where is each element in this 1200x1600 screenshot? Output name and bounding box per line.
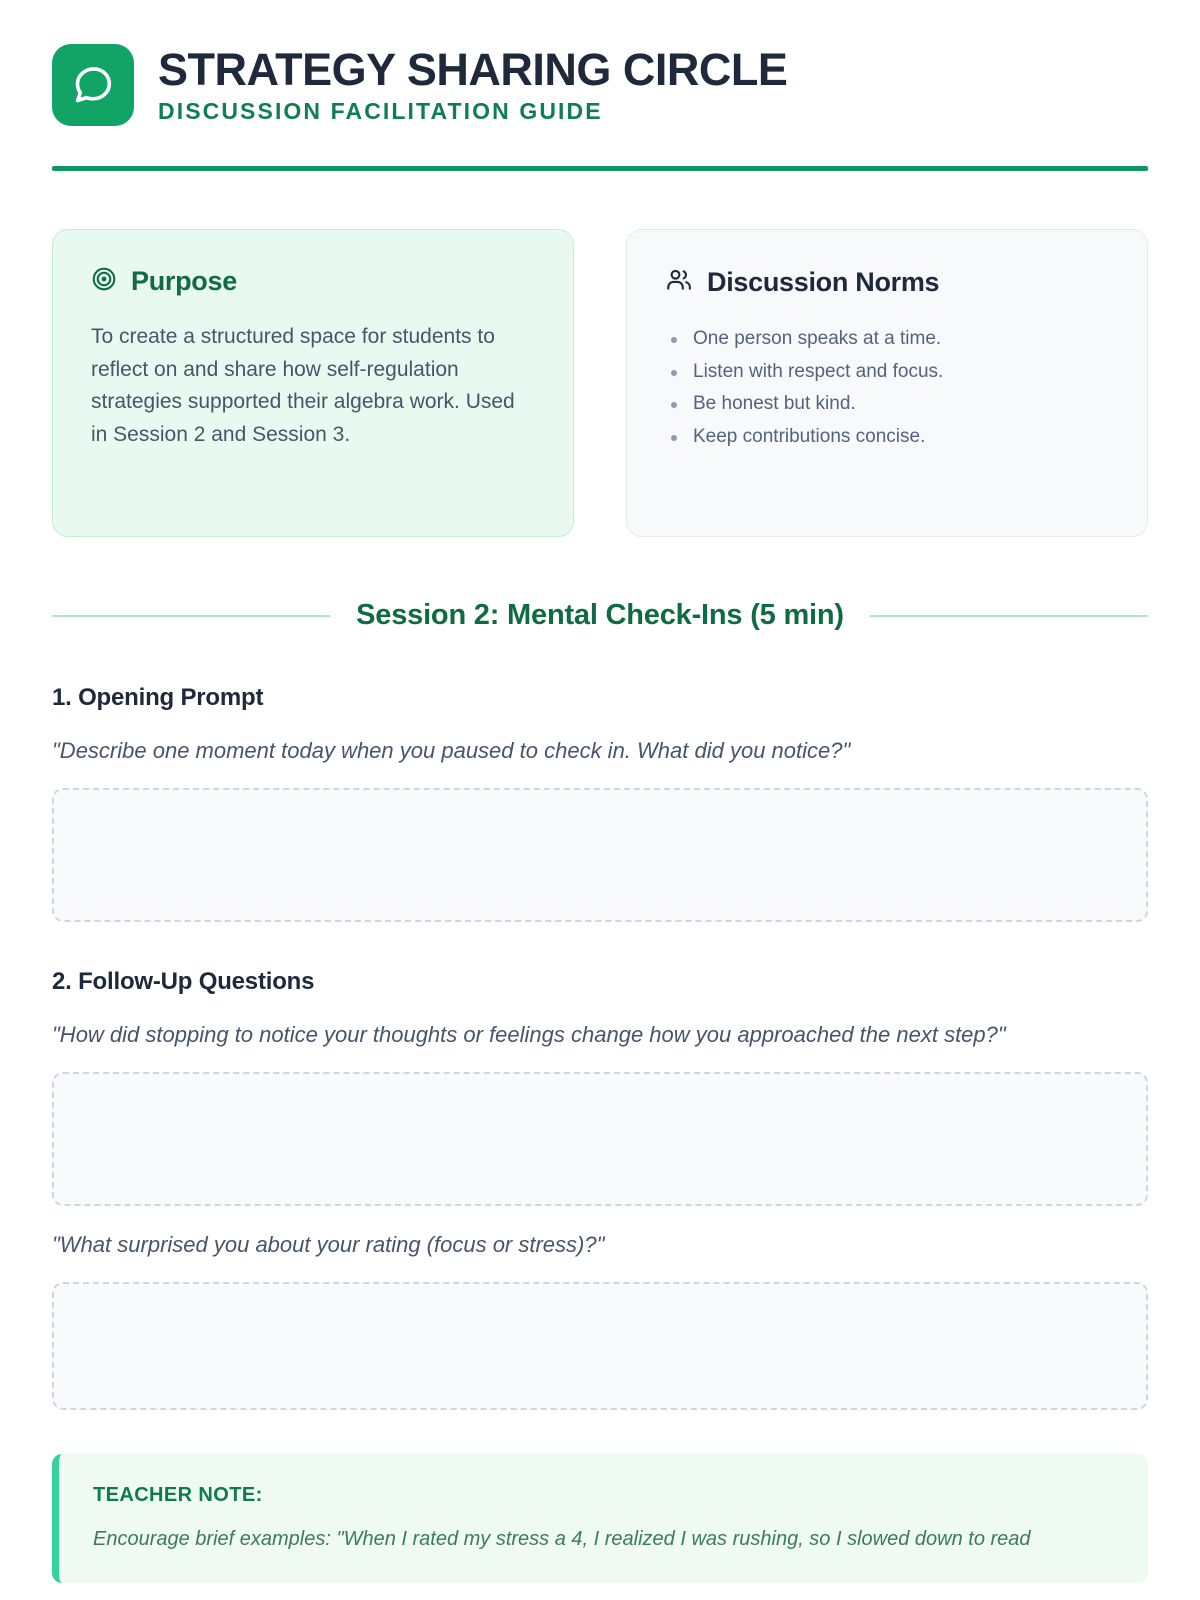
question-heading: 1. Opening Prompt — [52, 684, 1148, 712]
norms-list: One person speaks at a time. Listen with… — [665, 323, 1109, 454]
page-subtitle: DISCUSSION FACILITATION GUIDE — [158, 100, 787, 123]
speech-bubble-icon — [70, 62, 116, 108]
header-text-group: STRATEGY SHARING CIRCLE DISCUSSION FACIL… — [158, 47, 787, 123]
norms-card-title: Discussion Norms — [707, 267, 939, 298]
divider-line-left — [52, 615, 330, 617]
question-prompt: "Describe one moment today when you paus… — [52, 734, 1148, 768]
divider-line-right — [870, 615, 1148, 617]
discussion-norms-card: Discussion Norms One person speaks at a … — [626, 229, 1148, 537]
session-title: Session 2: Mental Check-Ins (5 min) — [356, 599, 844, 632]
teacher-note-label: TEACHER NOTE: — [93, 1484, 1114, 1507]
purpose-card-body: To create a structured space for student… — [91, 321, 535, 451]
norms-card-header: Discussion Norms — [665, 266, 1109, 299]
teacher-note-text: Encourage brief examples: "When I rated … — [93, 1524, 1114, 1555]
app-logo — [52, 44, 134, 126]
question-block-opening-prompt: 1. Opening Prompt "Describe one moment t… — [52, 684, 1148, 922]
header-divider-rule — [52, 166, 1148, 171]
question-prompt: "What surprised you about your rating (f… — [52, 1228, 1148, 1262]
page-title: STRATEGY SHARING CIRCLE — [158, 47, 787, 92]
answer-input-area[interactable] — [52, 1072, 1148, 1206]
list-item: Keep contributions concise. — [665, 421, 1109, 454]
session-section-divider: Session 2: Mental Check-Ins (5 min) — [52, 599, 1148, 632]
list-item: Be honest but kind. — [665, 388, 1109, 421]
purpose-card-title: Purpose — [131, 266, 237, 297]
question-heading: 2. Follow-Up Questions — [52, 968, 1148, 996]
purpose-card: Purpose To create a structured space for… — [52, 229, 574, 537]
purpose-card-header: Purpose — [91, 266, 535, 297]
teacher-note-callout: TEACHER NOTE: Encourage brief examples: … — [52, 1454, 1148, 1583]
list-item: One person speaks at a time. — [665, 323, 1109, 356]
question-block-follow-up-questions: 2. Follow-Up Questions "How did stopping… — [52, 968, 1148, 1410]
users-icon — [665, 266, 693, 299]
facilitation-guide-page: STRATEGY SHARING CIRCLE DISCUSSION FACIL… — [0, 0, 1200, 1600]
answer-input-area[interactable] — [52, 788, 1148, 922]
info-cards-row: Purpose To create a structured space for… — [52, 229, 1148, 537]
target-icon — [91, 266, 117, 297]
answer-input-area[interactable] — [52, 1282, 1148, 1410]
list-item: Listen with respect and focus. — [665, 356, 1109, 389]
question-prompt: "How did stopping to notice your thought… — [52, 1018, 1148, 1052]
page-header: STRATEGY SHARING CIRCLE DISCUSSION FACIL… — [52, 0, 1148, 126]
